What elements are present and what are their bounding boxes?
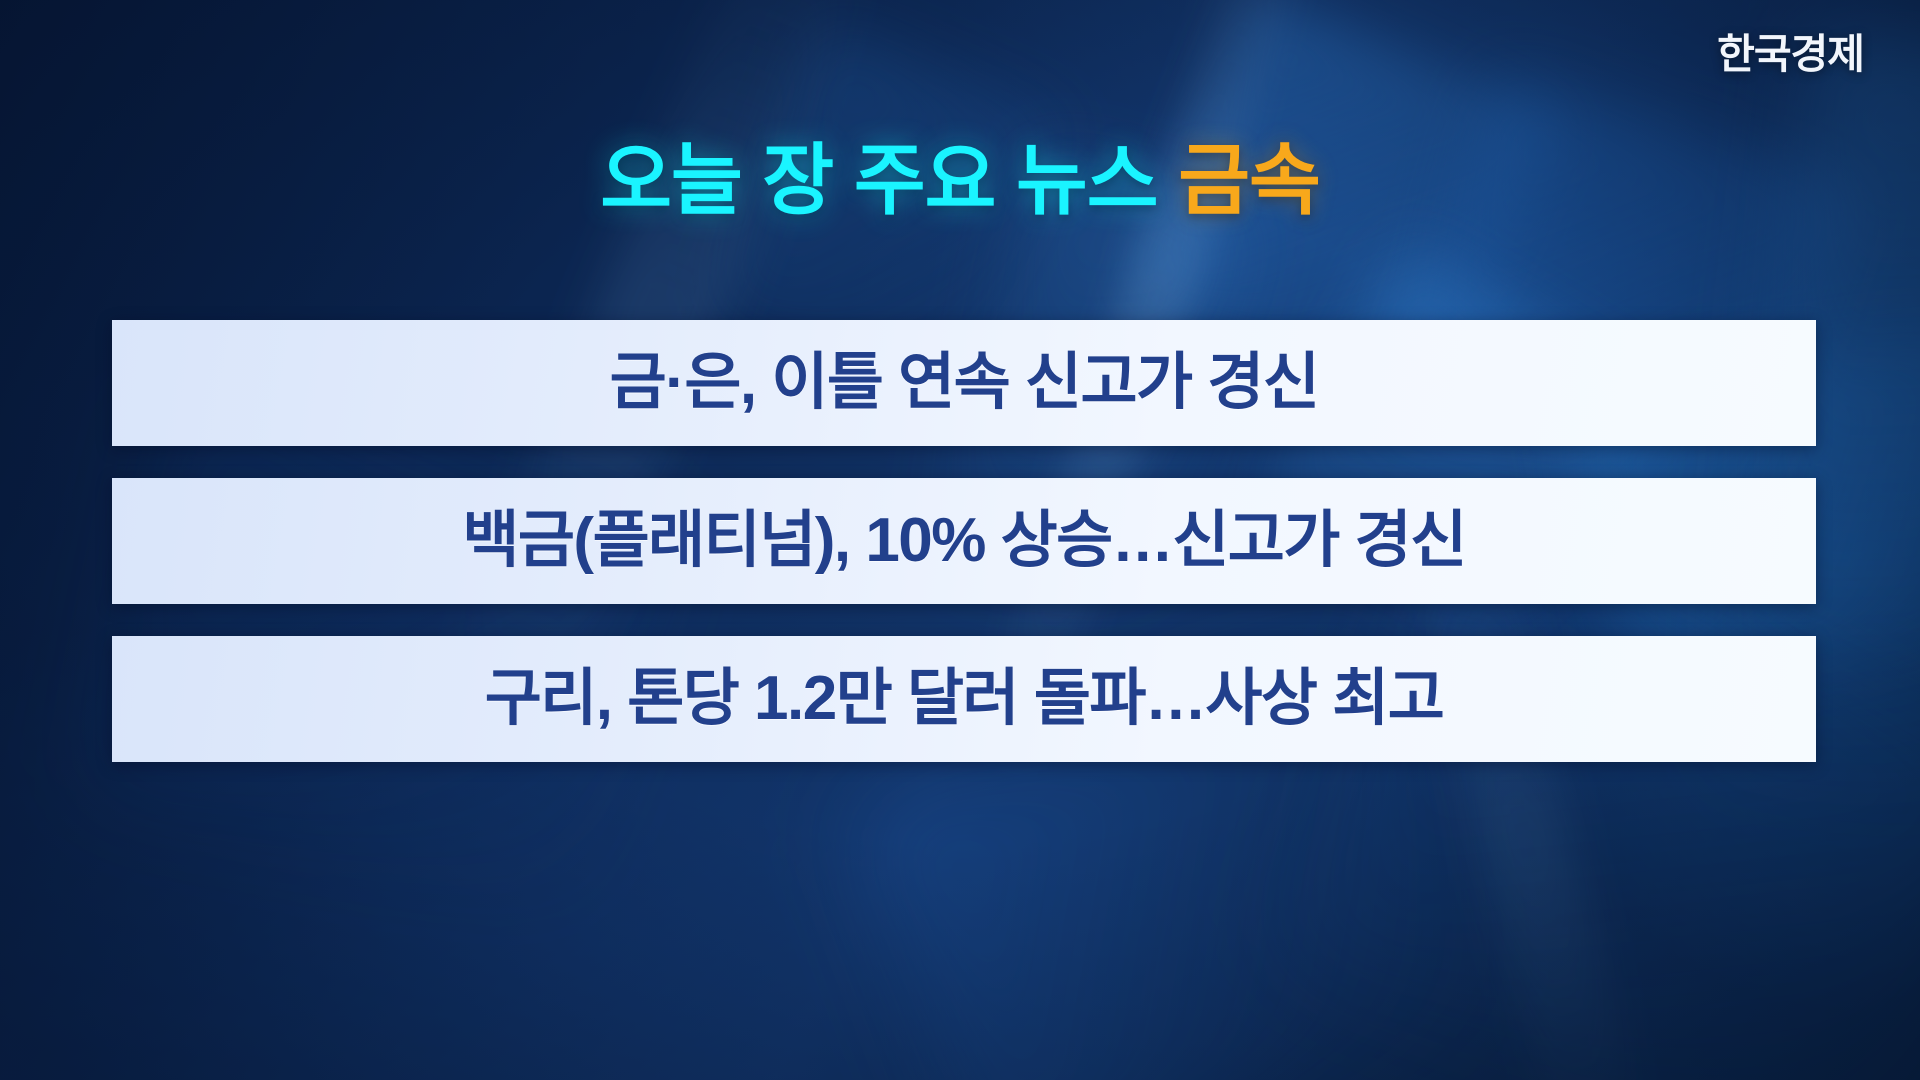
- page-title: 오늘 장 주요 뉴스 금속: [0, 140, 1920, 222]
- headline-bar: 구리, 톤당 1.2만 달러 돌파…사상 최고: [112, 636, 1816, 762]
- broadcaster-logo: 한국경제: [1717, 34, 1864, 75]
- headline-text: 금·은, 이틀 연속 신고가 경신: [610, 352, 1319, 414]
- broadcast-graphic-stage: 한국경제 오늘 장 주요 뉴스 금속 금·은, 이틀 연속 신고가 경신 백금(…: [0, 0, 1920, 1080]
- page-title-space: [1158, 136, 1179, 224]
- headline-text: 백금(플래티넘), 10% 상승…신고가 경신: [462, 510, 1465, 572]
- page-title-main: 오늘 장 주요 뉴스: [600, 136, 1157, 224]
- headline-bar: 백금(플래티넘), 10% 상승…신고가 경신: [112, 478, 1816, 604]
- page-title-highlight: 금속: [1178, 136, 1320, 224]
- headline-text: 구리, 톤당 1.2만 달러 돌파…사상 최고: [485, 668, 1444, 730]
- headline-bar: 금·은, 이틀 연속 신고가 경신: [112, 320, 1816, 446]
